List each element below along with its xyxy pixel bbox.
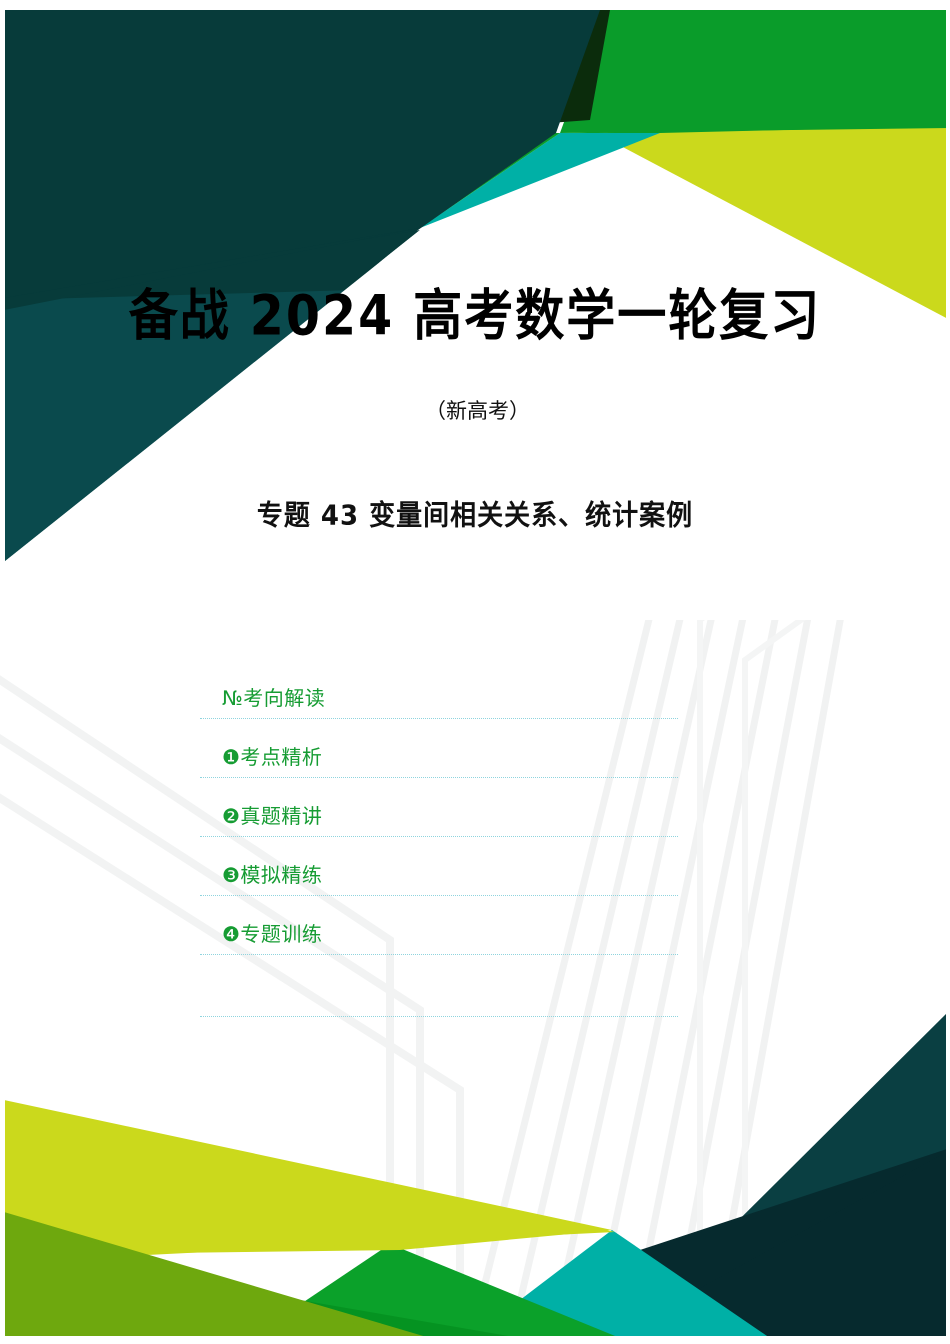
toc-item-3[interactable]: ❸模拟精练 [200,837,678,896]
toc-item-label: ❷真题精讲 [222,800,322,829]
toc-item-5[interactable] [200,955,678,1017]
toc-item-4[interactable]: ❹专题训练 [200,896,678,955]
toc-item-2[interactable]: ❷真题精讲 [200,778,678,837]
toc-item-0[interactable]: №考向解读 [200,660,678,719]
toc-item-label: №考向解读 [222,682,325,711]
toc-item-1[interactable]: ❶考点精析 [200,719,678,778]
page-title: 备战 2024 高考数学一轮复习 [0,272,950,352]
toc-divider [200,1016,678,1017]
cover-content: 备战 2024 高考数学一轮复习 （新高考） 专题 43 变量间相关关系、统计案… [0,0,950,1344]
cover-page: 备战 2024 高考数学一轮复习 （新高考） 专题 43 变量间相关关系、统计案… [0,0,950,1344]
toc-item-label: ❸模拟精练 [222,859,322,888]
toc-item-label: ❶考点精析 [222,741,322,770]
topic-title: 专题 43 变量间相关关系、统计案例 [0,494,950,533]
exam-type-subtitle: （新高考） [425,396,525,426]
table-of-contents: №考向解读 ❶考点精析 ❷真题精讲 ❸模拟精练 ❹专题训练 [200,660,678,1017]
toc-item-label: ❹专题训练 [222,918,322,947]
